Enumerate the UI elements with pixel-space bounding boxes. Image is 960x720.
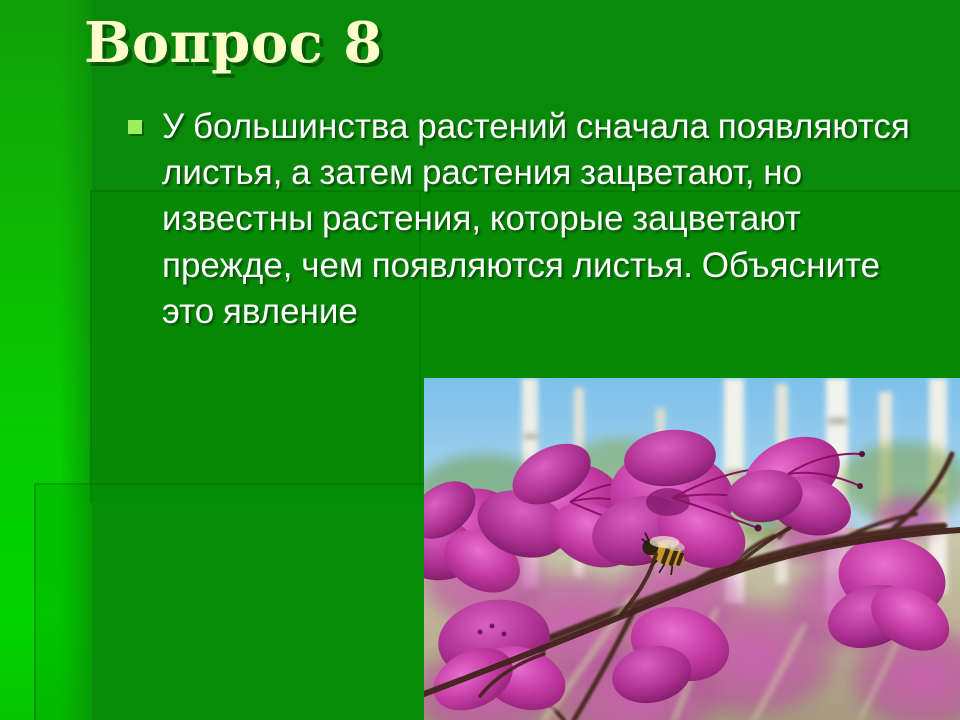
bullet-item-text: У большинства растений сначала появляютс… (162, 104, 928, 335)
bullet-list: У большинства растений сначала появляютс… (128, 104, 928, 335)
rhododendron-bloom-photo (424, 378, 960, 720)
square-bullet-icon (128, 120, 142, 134)
presentation-slide: Вопрос 8 У большинства растений сначала … (0, 0, 960, 720)
page-title: Вопрос 8 (84, 14, 383, 73)
photo-illustration (424, 378, 960, 720)
